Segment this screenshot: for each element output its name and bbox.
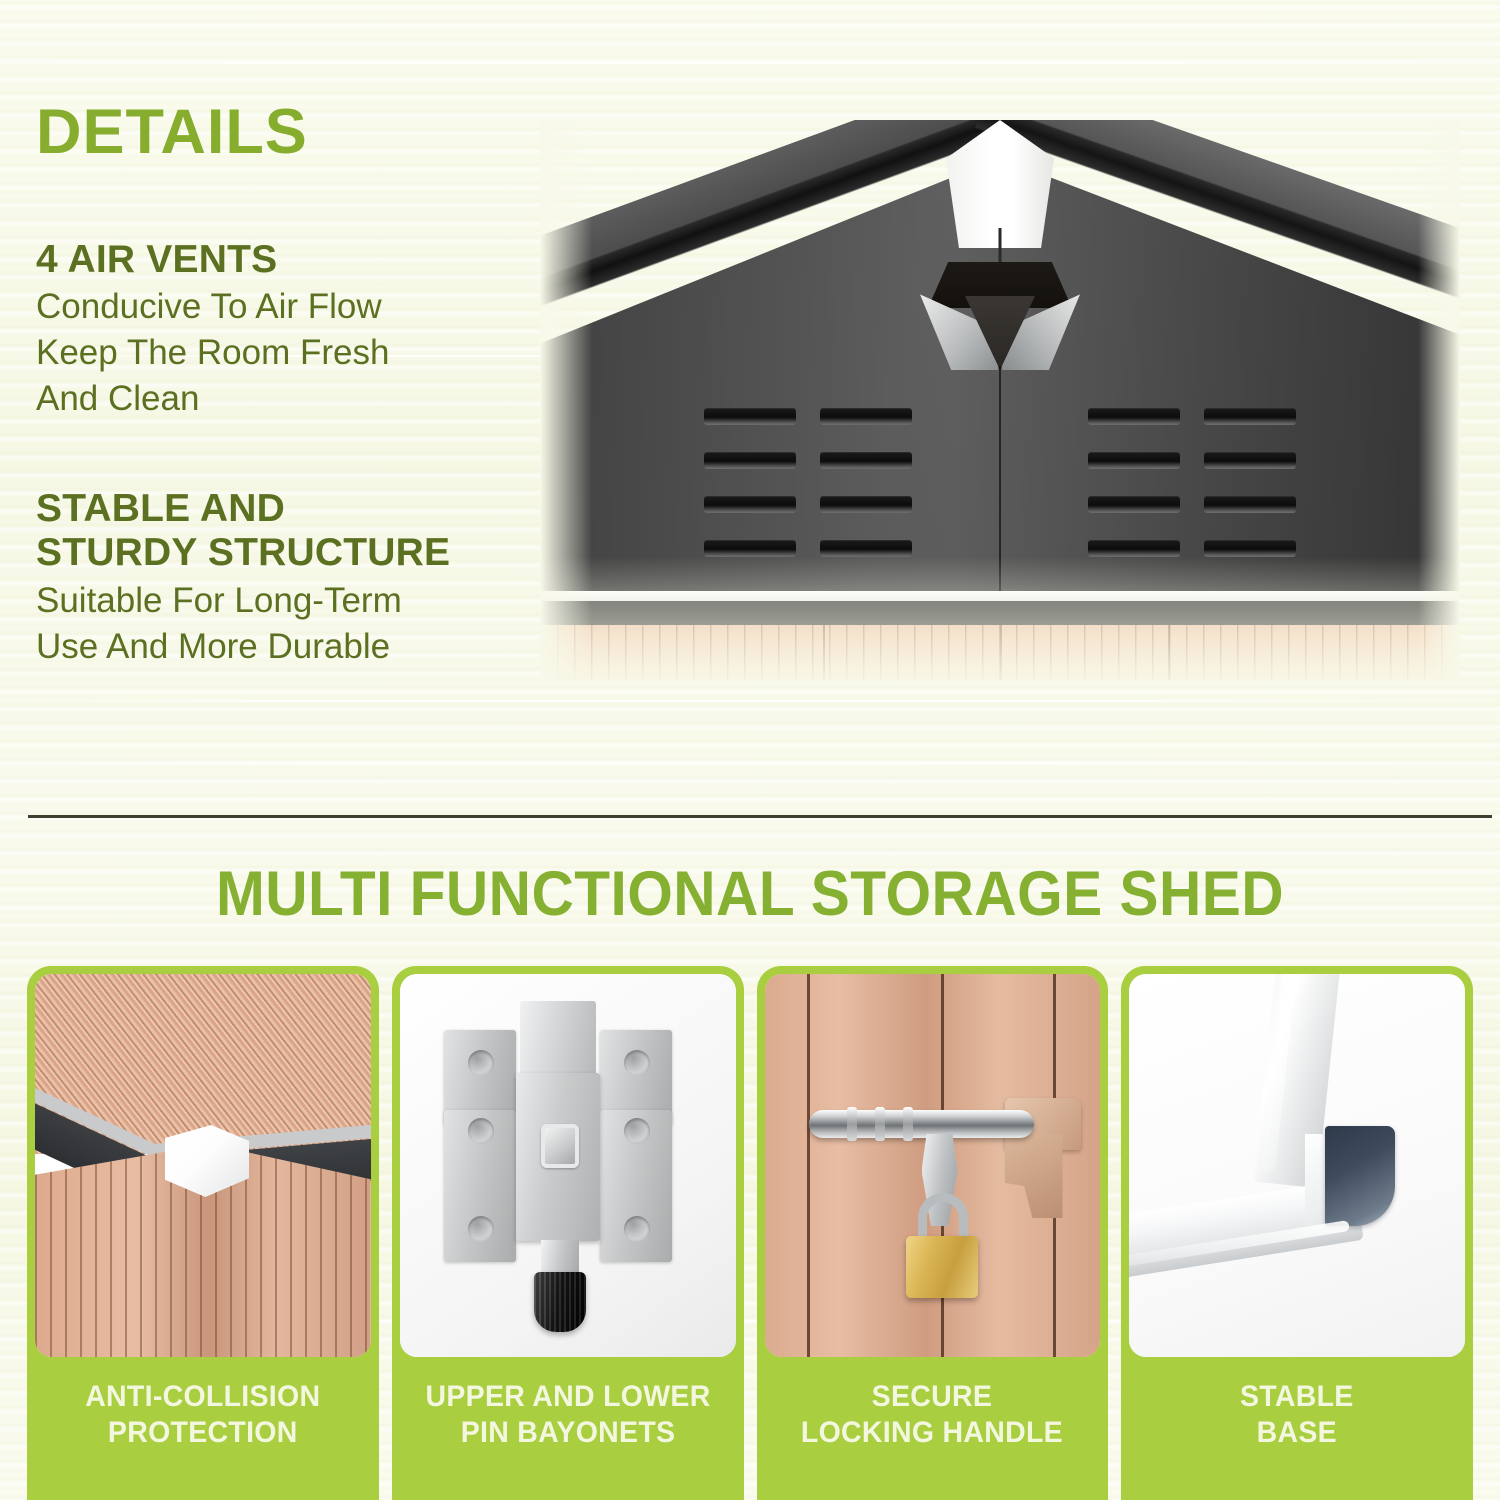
background-streak: [0, 762, 1500, 764]
dark-trim-band: [540, 601, 1460, 625]
feature-title-air-vents: 4 AIR VENTS: [36, 238, 389, 282]
vent-louver: [704, 496, 796, 513]
slide-bar-ring: [847, 1107, 857, 1141]
card-label-anti-collision: ANTI-COLLISION PROTECTION: [35, 1357, 371, 1500]
air-vent-group-left: [704, 408, 912, 557]
white-trim-band: [540, 591, 1460, 601]
feature-cards-row: ANTI-COLLISION PROTECTION UPPER AND LOWE…: [27, 966, 1473, 1500]
screw-hole-icon: [468, 1050, 494, 1076]
vent-louver: [1204, 452, 1296, 469]
siding-seam: [1000, 625, 1002, 680]
feature-body-air-vents: Conducive To Air Flow Keep The Room Fres…: [36, 284, 389, 422]
shed-illustration: [540, 120, 1460, 680]
card-label-text: STABLE BASE: [1240, 1379, 1354, 1451]
vent-column: [704, 408, 796, 557]
vent-louver: [1204, 496, 1296, 513]
slide-bar-ring: [875, 1107, 885, 1141]
slide-bar-ring: [903, 1107, 913, 1141]
card-label-pin-bayonets: UPPER AND LOWER PIN BAYONETS: [400, 1357, 736, 1500]
bolt-black-knob: [534, 1272, 586, 1332]
card-anti-collision-protection[interactable]: ANTI-COLLISION PROTECTION: [27, 966, 379, 1500]
brass-padlock-icon: [906, 1236, 978, 1298]
siding-seam: [823, 625, 825, 680]
base-frame-end-cap: [1325, 1126, 1395, 1226]
screw-hole-icon: [468, 1216, 494, 1242]
feature-air-vents: 4 AIR VENTS Conducive To Air Flow Keep T…: [36, 238, 389, 422]
vent-column: [820, 408, 912, 557]
vent-louver: [820, 496, 912, 513]
screw-hole-icon: [624, 1050, 650, 1076]
card-label-locking-handle: SECURE LOCKING HANDLE: [765, 1357, 1101, 1500]
vent-louver: [1204, 408, 1296, 425]
card-upper-and-lower-pin-bayonets[interactable]: UPPER AND LOWER PIN BAYONETS: [392, 966, 744, 1500]
vent-louver: [820, 408, 912, 425]
card-image-locking-handle: [765, 974, 1101, 1357]
vent-louver: [1088, 408, 1180, 425]
card-label-text: UPPER AND LOWER PIN BAYONETS: [425, 1379, 710, 1451]
screw-hole-icon: [468, 1118, 494, 1144]
vent-column: [1088, 408, 1180, 557]
vent-louver: [704, 408, 796, 425]
air-vent-group-right: [1088, 408, 1296, 557]
multi-functional-heading: MULTI FUNCTIONAL STORAGE SHED: [53, 858, 1448, 930]
card-image-anti-collision: [35, 974, 371, 1357]
bolt-thumb-slot: [541, 1124, 579, 1168]
background-streak: [0, 62, 1500, 64]
card-secure-locking-handle[interactable]: SECURE LOCKING HANDLE: [757, 966, 1109, 1500]
screw-hole-icon: [624, 1118, 650, 1144]
vent-louver: [1088, 540, 1180, 557]
card-image-pin-bayonets: [400, 974, 736, 1357]
feature-stable-structure: STABLE AND STURDY STRUCTURE Suitable For…: [36, 487, 450, 670]
vent-medallion: [920, 262, 1080, 370]
vent-louver: [820, 540, 912, 557]
door-panel-groove: [807, 974, 810, 1357]
feature-title-stable-structure: STABLE AND STURDY STRUCTURE: [36, 487, 450, 576]
vent-louver: [1204, 540, 1296, 557]
siding-seam: [1168, 625, 1170, 680]
vent-column: [1204, 408, 1296, 557]
vent-louver: [1088, 496, 1180, 513]
vent-louver: [704, 540, 796, 557]
wall-panel-seam: [999, 366, 1001, 600]
vent-louver: [1088, 452, 1180, 469]
shed-gable-photo: [540, 120, 1460, 680]
bolt-housing-top: [520, 1001, 596, 1075]
card-label-text: ANTI-COLLISION PROTECTION: [85, 1379, 320, 1451]
card-stable-base[interactable]: STABLE BASE: [1121, 966, 1473, 1500]
details-heading: DETAILS: [36, 101, 308, 164]
bolt-pin-shaft: [541, 1240, 579, 1276]
vent-louver: [704, 452, 796, 469]
card-image-stable-base: [1129, 974, 1465, 1357]
background-streak: [0, 700, 1500, 702]
card-label-stable-base: STABLE BASE: [1129, 1357, 1465, 1500]
card-label-text: SECURE LOCKING HANDLE: [801, 1379, 1063, 1451]
screw-hole-icon: [624, 1216, 650, 1242]
chrome-slide-bar: [809, 1110, 1034, 1138]
feature-body-stable-structure: Suitable For Long-Term Use And More Dura…: [36, 578, 450, 670]
section-divider: [28, 815, 1492, 818]
vent-louver: [820, 452, 912, 469]
